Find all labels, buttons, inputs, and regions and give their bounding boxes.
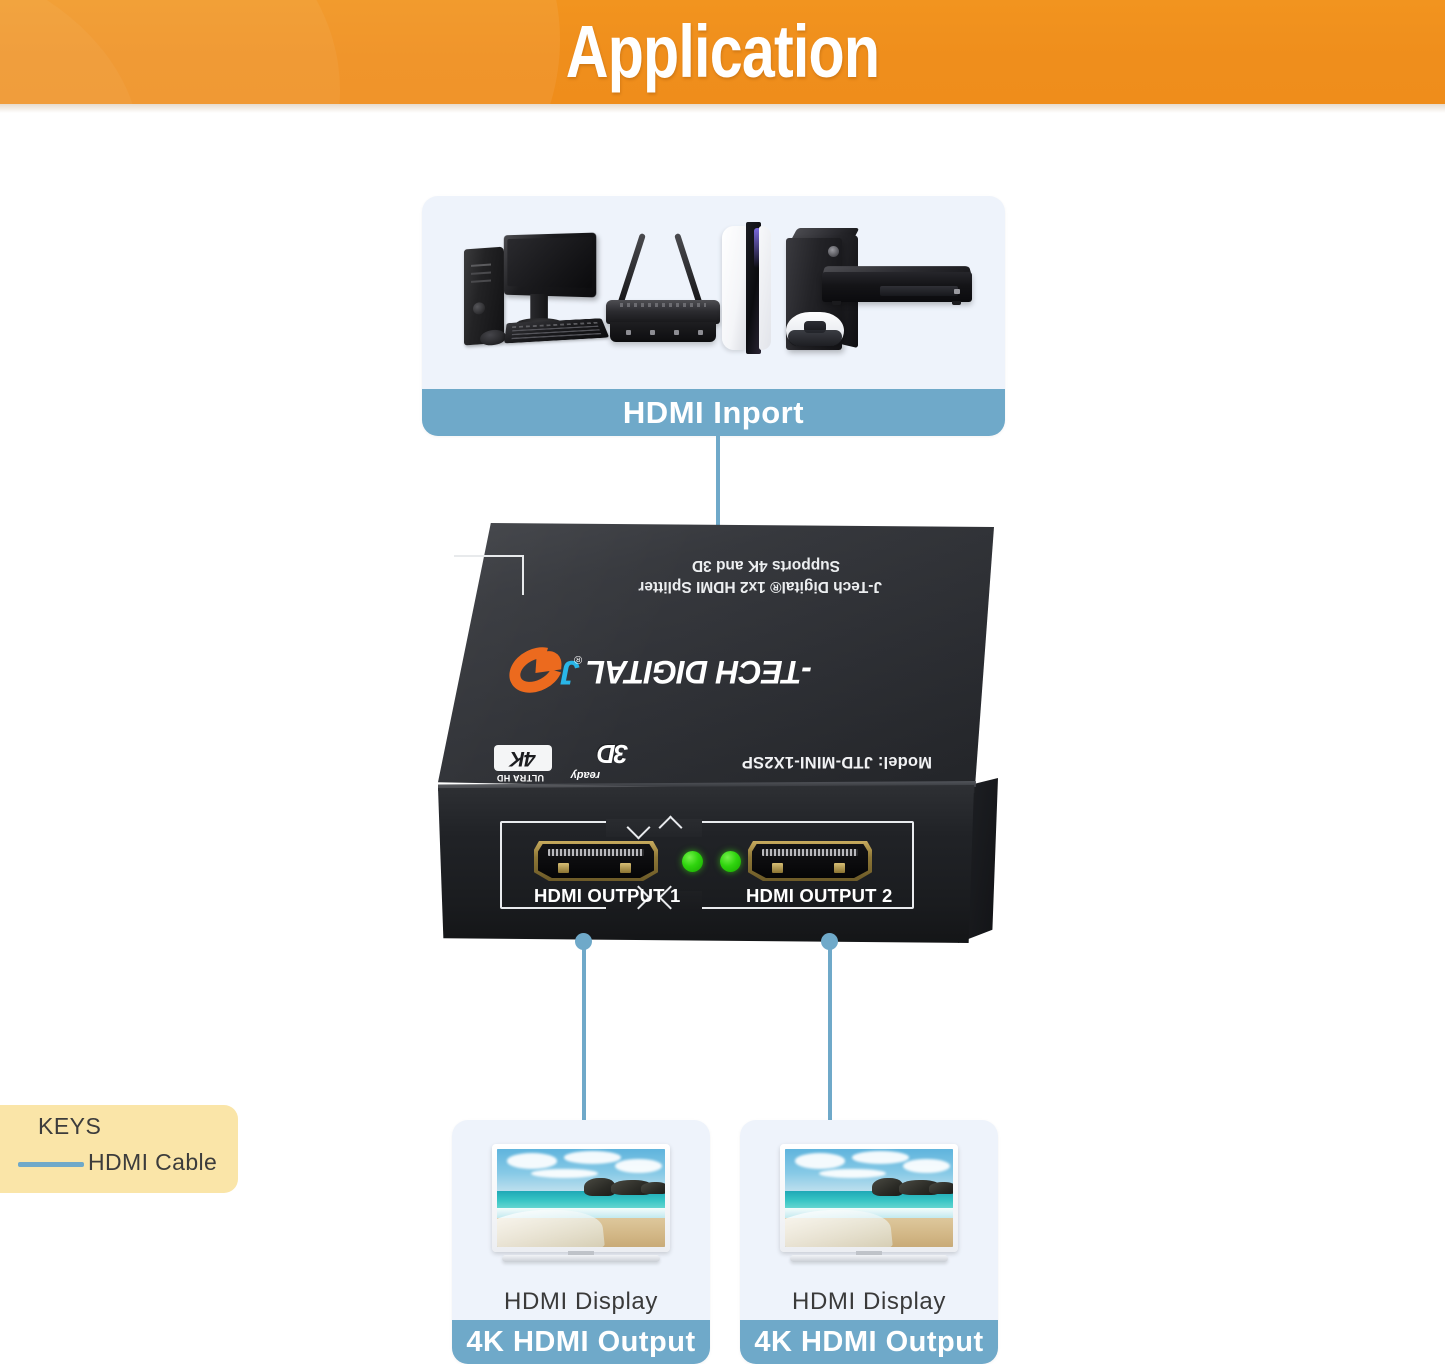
hdmi-output-2-label: HDMI OUTPUT 2 xyxy=(746,885,893,907)
hdmi-port-2-tab-right xyxy=(834,863,845,873)
device-top-printing: Model: JTD-MINI-1X2SP 3D ready ULTRA HD … xyxy=(438,523,994,793)
display-1-output-label: 4K HDMI Output xyxy=(452,1320,710,1364)
display-2-caption: HDMI Display xyxy=(740,1284,998,1320)
dvd-player-icon xyxy=(820,258,980,328)
hdmi-port-1-tab-right xyxy=(620,863,631,873)
port-frame-notch-top xyxy=(606,819,702,837)
header-shadow xyxy=(0,104,1445,113)
pc-monitor-icon xyxy=(504,233,596,298)
ps5-left-panel xyxy=(722,226,748,350)
screen-rock xyxy=(929,1182,953,1194)
brand-name-text: -TECH DIGITAL xyxy=(586,653,812,690)
keys-legend-title: KEYS xyxy=(38,1113,101,1140)
tv-icon-2 xyxy=(780,1144,958,1262)
tv-1-bezel xyxy=(492,1144,670,1252)
display-1-caption: HDMI Display xyxy=(452,1284,710,1320)
jtech-swoosh-logo-icon xyxy=(504,647,564,693)
status-led-2 xyxy=(720,851,741,872)
page-title: Application xyxy=(145,6,1301,98)
screen-cloud xyxy=(615,1159,662,1173)
4k-badge-text: 4K xyxy=(494,745,552,771)
3d-badge-text: 3D xyxy=(599,738,628,769)
source-device-row xyxy=(422,196,1005,389)
screen-rock xyxy=(641,1182,665,1194)
screen-cloud xyxy=(564,1151,621,1164)
application-diagram-page: Application xyxy=(0,0,1445,1364)
wifi-router-icon xyxy=(594,226,734,356)
router-antenna-left xyxy=(616,233,646,309)
tv-1-screen xyxy=(497,1149,665,1247)
ps5-right-panel xyxy=(759,226,771,350)
hdmi-output-port-2[interactable] xyxy=(748,841,872,881)
hdmi-output-1-label: HDMI OUTPUT 1 xyxy=(534,885,681,907)
screen-rock xyxy=(584,1178,614,1196)
screen-cloud xyxy=(795,1153,845,1169)
screen-rock xyxy=(872,1178,902,1196)
router-front-panel xyxy=(610,322,716,342)
xbox-power-logo xyxy=(828,246,839,257)
hdmi-cable-output-2 xyxy=(828,940,832,1122)
router-body xyxy=(606,300,720,324)
playstation-5-icon xyxy=(718,220,784,360)
status-led-1 xyxy=(682,851,703,872)
desktop-pc-icon xyxy=(450,226,610,356)
screen-cloud xyxy=(903,1159,950,1173)
hdmi-cable-output-1 xyxy=(582,940,586,1122)
router-led-2 xyxy=(650,330,655,335)
hdmi-cable-legend-swatch xyxy=(18,1162,84,1167)
device-description-line2: Supports 4K and 3D xyxy=(522,555,882,576)
router-led-4 xyxy=(698,330,703,335)
hdmi-display-panel-1: HDMI Display 4K HDMI Output xyxy=(452,1120,710,1364)
hdmi-input-panel: HDMI Inport xyxy=(422,196,1005,436)
hdmi-port-1-cavity xyxy=(538,844,654,878)
device-model-label: Model: JTD-MINI-1X2SP xyxy=(632,752,932,771)
hdmi-input-label: HDMI Inport xyxy=(422,389,1005,436)
router-led-3 xyxy=(674,330,679,335)
tv-2-bezel xyxy=(780,1144,958,1252)
tv-2-stand-base xyxy=(790,1255,948,1262)
display-2-output-label: 4K HDMI Output xyxy=(740,1320,998,1364)
screen-cloud xyxy=(852,1151,909,1164)
hdmi-port-1-pins xyxy=(548,849,644,856)
hdmi-output-port-1[interactable] xyxy=(534,841,658,881)
tv-icon-1 xyxy=(492,1144,670,1262)
pc-monitor-stand xyxy=(530,294,548,320)
keys-legend: KEYS HDMI Cable xyxy=(0,1105,238,1193)
hdmi-port-1-tab-left xyxy=(558,863,569,873)
screen-cloud xyxy=(507,1153,557,1169)
hdmi-cable-legend-label: HDMI Cable xyxy=(88,1149,217,1176)
3d-badge-subtext: ready xyxy=(571,769,600,781)
brand-registered-mark: ® xyxy=(574,653,582,665)
description-bracket-arm xyxy=(454,555,494,557)
device-description: J-Tech Digital® 1x2 HDMI Splitter Suppor… xyxy=(522,555,882,597)
hdmi-port-2-tab-left xyxy=(772,863,783,873)
tv-2-screen xyxy=(785,1149,953,1247)
brand-logo-group: J -TECH DIGITAL ® xyxy=(504,639,924,695)
description-bracket xyxy=(490,555,524,595)
hdmi-splitter-device: Model: JTD-MINI-1X2SP 3D ready ULTRA HD … xyxy=(438,523,994,948)
3d-ready-badge: 3D ready xyxy=(560,739,632,781)
tv-1-stand-base xyxy=(502,1255,660,1262)
4k-badge-subtext: ULTRA HD xyxy=(497,773,544,783)
dvd-foot-left xyxy=(832,301,841,305)
device-description-line1: J-Tech Digital® 1x2 HDMI Splitter xyxy=(522,576,882,597)
hdmi-port-2-cavity xyxy=(752,844,868,878)
hdmi-display-panel-2: HDMI Display 4K HDMI Output xyxy=(740,1120,998,1364)
header-banner: Application xyxy=(0,0,1445,104)
4k-ultra-hd-badge: ULTRA HD 4K xyxy=(484,742,552,782)
router-antenna-right xyxy=(674,233,704,309)
dvd-body xyxy=(822,272,972,302)
hdmi-port-2-pins xyxy=(762,849,858,856)
dvd-foot-right xyxy=(952,301,961,305)
router-led-1 xyxy=(626,330,631,335)
